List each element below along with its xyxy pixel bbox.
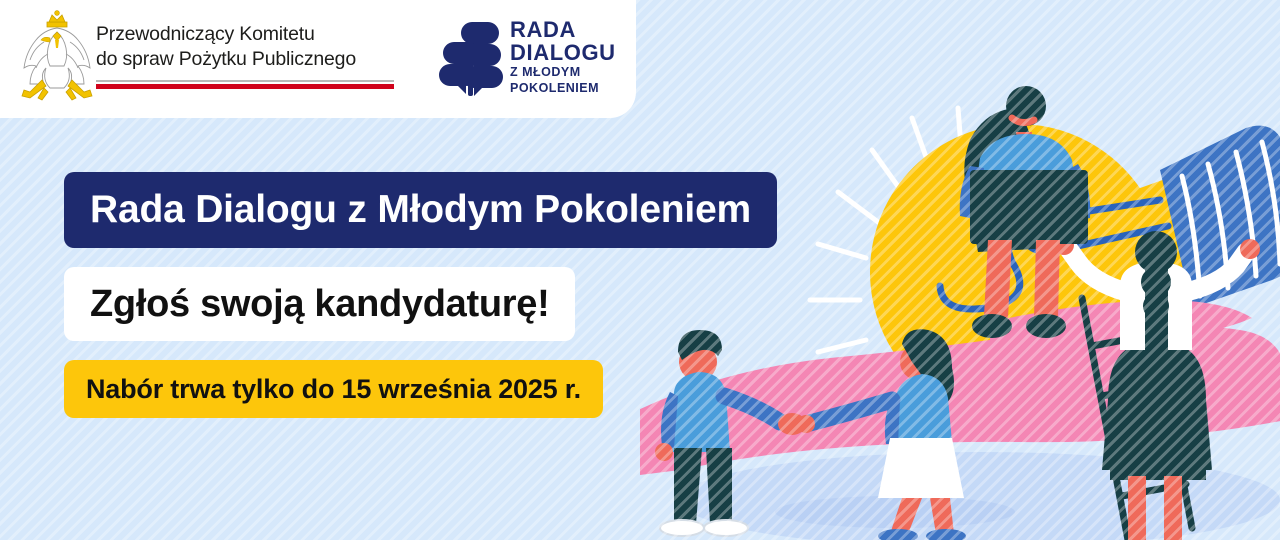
promo-banner: Przewodniczący Komitetu do spraw Pożytku… — [0, 0, 1280, 540]
ministry-line-1: Przewodniczący Komitetu — [96, 22, 396, 47]
message-stack: Rada Dialogu z Młodym Pokoleniem Zgłoś s… — [64, 172, 777, 418]
polish-flag-rule — [96, 80, 394, 89]
ministry-line-2: do spraw Pożytku Publicznego — [96, 47, 396, 72]
rdmp-line-pokoleniem: POKOLENIEM — [510, 80, 616, 96]
rule-gray — [96, 80, 394, 82]
rdmp-line-rada: RADA — [510, 18, 616, 41]
ministry-title: Przewodniczący Komitetu do spraw Pożytku… — [96, 22, 396, 72]
rule-red — [96, 84, 394, 89]
rdmp-logo: RADA DIALOGU Z MŁODYM POKOLENIEM — [428, 14, 618, 106]
rdmp-line-zmlodym: Z MŁODYM — [510, 64, 616, 80]
rdmp-line-dialogu: DIALOGU — [510, 41, 616, 64]
speech-bubble-plant-icon — [428, 18, 512, 102]
rdmp-logo-text: RADA DIALOGU Z MŁODYM POKOLENIEM — [510, 18, 616, 96]
polish-eagle-emblem-icon — [14, 8, 100, 108]
laptop-icon — [970, 170, 1088, 244]
headline-title: Rada Dialogu z Młodym Pokoleniem — [64, 172, 777, 248]
header-panel: Przewodniczący Komitetu do spraw Pożytku… — [0, 0, 636, 118]
deadline-badge: Nabór trwa tylko do 15 września 2025 r. — [64, 360, 603, 418]
call-to-action-text: Zgłoś swoją kandydaturę! — [64, 267, 575, 341]
